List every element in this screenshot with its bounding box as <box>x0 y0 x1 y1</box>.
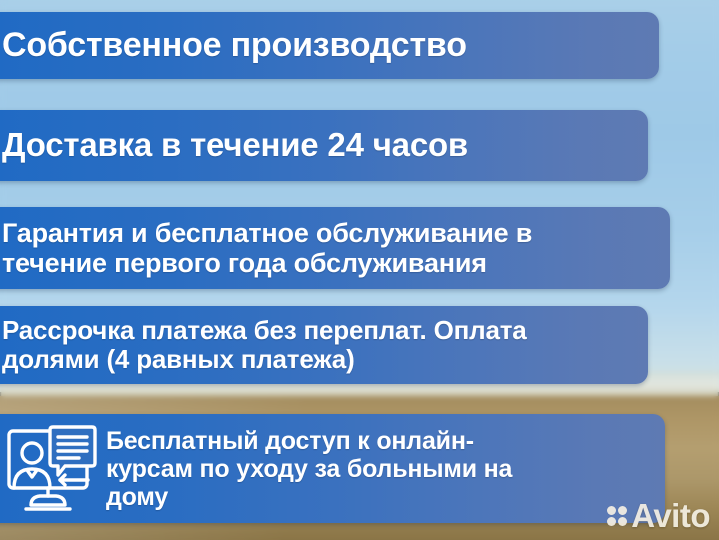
banner-delivery-24h: Доставка в течение 24 часов <box>0 110 648 181</box>
banner-text: Доставка в течение 24 часов <box>0 127 468 164</box>
banner-free-online-courses: Бесплатный доступ к онлайн- курсам по ух… <box>0 414 665 523</box>
banner-installment-payment: Рассрочка платежа без переплат. Оплата д… <box>0 306 648 384</box>
avito-watermark: Avito <box>607 499 710 532</box>
avito-wordmark: Avito <box>631 499 710 532</box>
banner-text: Собственное производство <box>0 26 467 64</box>
banner-text: Бесплатный доступ к онлайн- курсам по ух… <box>106 427 512 511</box>
online-course-monitor-icon <box>4 423 100 515</box>
banner-own-production: Собственное производство <box>0 12 659 79</box>
avito-logo-icon <box>607 506 627 526</box>
banner-text: Гарантия и бесплатное обслуживание в теч… <box>0 218 532 278</box>
banner-text: Рассрочка платежа без переплат. Оплата д… <box>0 316 527 374</box>
banner-warranty-free-service: Гарантия и бесплатное обслуживание в теч… <box>0 207 670 289</box>
promo-image: Собственное производство Доставка в тече… <box>0 0 719 540</box>
